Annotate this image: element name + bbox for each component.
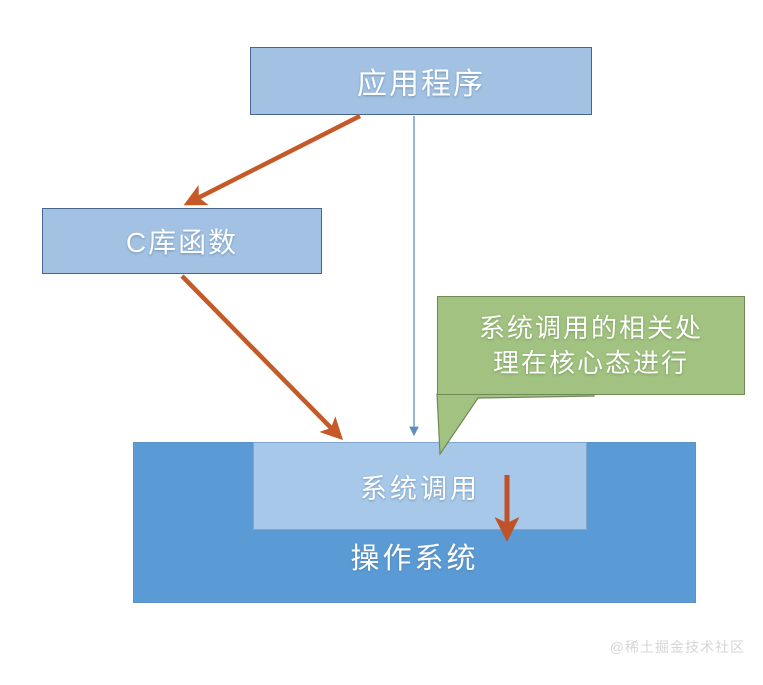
arrow-clib-to-syscall (182, 276, 338, 435)
watermark: @稀土掘金技术社区 (610, 637, 745, 657)
operating-system-label: 操作系统 (350, 535, 478, 577)
system-call-label: 系统调用 (360, 467, 480, 506)
callout-line-1: 系统调用的相关处 (479, 311, 703, 345)
callout-text: 系统调用的相关处 理在核心态进行 (465, 311, 717, 380)
system-call-box[interactable]: 系统调用 (253, 442, 587, 530)
callout-box[interactable]: 系统调用的相关处 理在核心态进行 (437, 296, 745, 395)
application-label: 应用程序 (357, 59, 485, 103)
c-library-box[interactable]: C库函数 (42, 208, 322, 274)
c-library-label: C库函数 (126, 221, 238, 261)
arrow-app-to-clib (190, 116, 360, 202)
application-box[interactable]: 应用程序 (250, 47, 592, 115)
callout-line-2: 理在核心态进行 (479, 346, 703, 380)
diagram-canvas: 操作系统 系统调用 应用程序 C库函数 系统调用的相关处 理在核心态进行 @稀土… (0, 0, 763, 685)
